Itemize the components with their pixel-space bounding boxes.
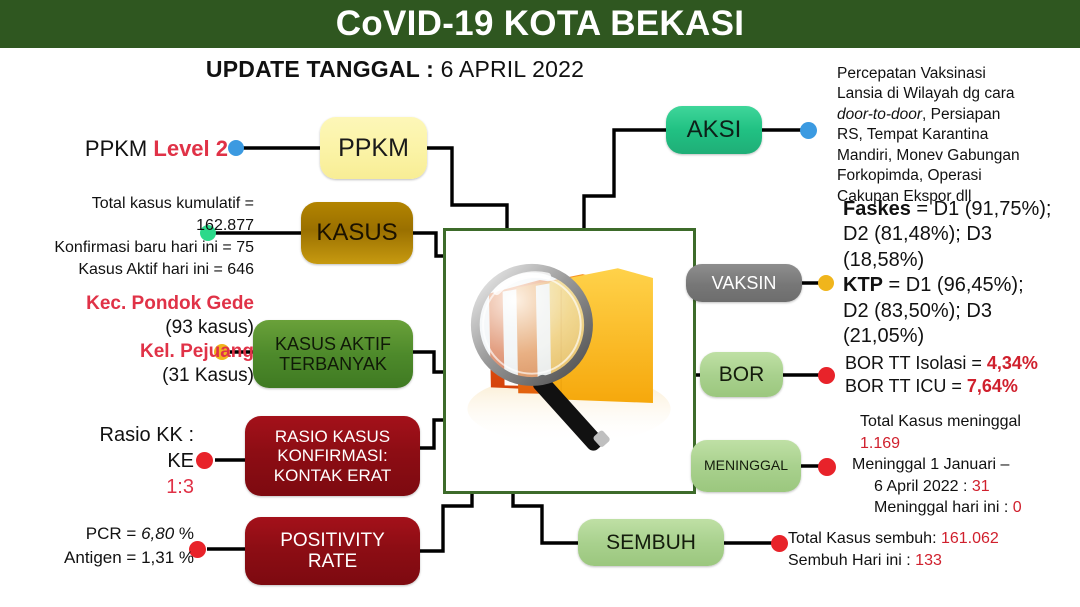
aksi-line5: Mandiri, Monev Gabungan (837, 146, 1055, 166)
vaksin-faskes-line3: (18,58%) (843, 248, 1075, 273)
vaksin-faskes-line2: D2 (81,48%); D3 (843, 222, 1075, 247)
sembuh-hari-ini-value: 133 (915, 552, 942, 569)
aksi-line3-italic: door-to-door (837, 106, 922, 123)
meninggal-periode-line2: 6 April 2022 : 31 (874, 476, 1078, 498)
meninggal-hari-ini-value: 0 (1013, 499, 1022, 516)
node-aksi[interactable]: AKSI (666, 106, 762, 154)
bor-icu: BOR TT ICU = 7,64% (845, 375, 1075, 398)
positivity-antigen: Antigen = 1,31 % (30, 546, 194, 570)
subtitle-label: UPDATE TANGGAL : (206, 56, 434, 82)
node-ppkm[interactable]: PPKM (320, 117, 427, 179)
aksi-line2: Lansia di Wilayah dg cara (837, 84, 1055, 104)
ppkm-label: PPKM (85, 136, 147, 161)
node-bor[interactable]: BOR (700, 352, 783, 397)
bor-icu-value: 7,64% (967, 376, 1018, 396)
kasus-aktif-kel: Kel. Pejuang (18, 340, 254, 364)
vaksin-ktp-line2: D2 (83,50%); D3 (843, 299, 1075, 324)
text-bor: BOR TT Isolasi = 4,34% BOR TT ICU = 7,64… (845, 352, 1075, 399)
aksi-line4: RS, Tempat Karantina (837, 125, 1055, 145)
vaksin-ktp-line1: KTP = D1 (96,45%); (843, 273, 1075, 298)
text-aksi: Percepatan Vaksinasi Lansia di Wilayah d… (837, 64, 1055, 207)
node-kasus-aktif-line2: TERBANYAK (275, 354, 391, 374)
rasio-value: 1:3 (60, 474, 194, 500)
meninggal-hari-ini: Meninggal hari ini : 0 (874, 497, 1078, 519)
aksi-line6: Forkopimda, Operasi (837, 166, 1055, 186)
sembuh-hari-ini: Sembuh Hari ini : 133 (788, 550, 1080, 572)
node-positivity-line1: POSITIVITY (280, 530, 385, 551)
node-meninggal[interactable]: MENINGGAL (691, 440, 801, 492)
kasus-line4: Kasus Aktif hari ini = 646 (22, 259, 254, 281)
bor-isolasi: BOR TT Isolasi = 4,34% (845, 352, 1075, 375)
node-rasio-line1: RASIO KASUS (274, 427, 391, 446)
dot-ppkm (228, 140, 244, 156)
text-meninggal: Total Kasus meninggal 1.169 Meninggal 1 … (852, 411, 1078, 519)
node-positivity-rate[interactable]: POSITIVITY RATE (245, 517, 420, 585)
bor-isolasi-label: BOR TT Isolasi = (845, 353, 987, 373)
node-rasio-kasus-konfirmasi[interactable]: RASIO KASUS KONFIRMASI: KONTAK ERAT (245, 416, 420, 496)
bor-isolasi-value: 4,34% (987, 353, 1038, 373)
folder-magnifier-icon (446, 231, 693, 491)
node-kasus-aktif-terbanyak[interactable]: KASUS AKTIF TERBANYAK (253, 320, 413, 388)
node-kasus-aktif-line1: KASUS AKTIF (275, 334, 391, 354)
rasio-line1: Rasio KK : (60, 422, 194, 448)
positivity-pcr-unit: % (174, 524, 194, 543)
node-rasio-line2: KONFIRMASI: (274, 446, 391, 465)
meninggal-periode-line1: Meninggal 1 Januari – (852, 454, 1078, 476)
kasus-aktif-kel-count: (31 Kasus) (18, 364, 254, 388)
text-kasus: Total kasus kumulatif = 162.877 Konfirma… (22, 193, 254, 281)
vaksin-faskes-d1: = D1 (91,75%); (911, 198, 1052, 220)
text-sembuh: Total Kasus sembuh: 161.062 Sembuh Hari … (788, 528, 1080, 572)
text-vaksin: Faskes = D1 (91,75%); D2 (81,48%); D3 (1… (843, 197, 1075, 349)
node-sembuh[interactable]: SEMBUH (578, 519, 724, 566)
dot-meninggal (818, 458, 836, 476)
kasus-line1: Total kasus kumulatif = (22, 193, 254, 215)
text-positivity: PCR = 6,80 % Antigen = 1,31 % (30, 522, 194, 570)
aksi-line3: door-to-door, Persiapan (837, 105, 1055, 125)
rasio-line2: KE (60, 448, 194, 474)
text-ppkm: PPKM Level 2 (60, 136, 228, 162)
meninggal-total-value: 1.169 (860, 433, 1078, 455)
dot-vaksin (818, 275, 834, 291)
infographic-canvas: CoVID-19 KOTA BEKASI UPDATE TANGGAL : 6 … (0, 0, 1080, 607)
positivity-pcr: PCR = 6,80 % (30, 522, 194, 546)
vaksin-ktp-line3: (21,05%) (843, 324, 1075, 349)
node-kasus[interactable]: KASUS (301, 202, 413, 264)
sembuh-total: Total Kasus sembuh: 161.062 (788, 528, 1080, 550)
ppkm-level-value: Level 2 (153, 136, 228, 161)
aksi-line3-rest: , Persiapan (922, 106, 1000, 123)
kasus-aktif-kec-count: (93 kasus) (18, 316, 254, 340)
positivity-pcr-label: PCR = (86, 524, 141, 543)
kasus-aktif-kec: Kec. Pondok Gede (18, 292, 254, 316)
sembuh-total-value: 161.062 (941, 530, 999, 547)
kasus-line3: Konfirmasi baru hari ini = 75 (22, 237, 254, 259)
text-rasio: Rasio KK : KE 1:3 (60, 422, 194, 500)
sembuh-hari-ini-label: Sembuh Hari ini : (788, 552, 915, 569)
vaksin-ktp-d1: = D1 (96,45%); (883, 274, 1024, 296)
bor-icu-label: BOR TT ICU = (845, 376, 967, 396)
dot-aksi (800, 122, 817, 139)
aksi-line1: Percepatan Vaksinasi (837, 64, 1055, 84)
text-kasus-aktif: Kec. Pondok Gede (93 kasus) Kel. Pejuang… (18, 292, 254, 389)
dot-rasio (196, 452, 213, 469)
meninggal-hari-ini-label: Meninggal hari ini : (874, 499, 1013, 516)
positivity-pcr-value: 6,80 (141, 524, 174, 543)
node-vaksin[interactable]: VAKSIN (686, 264, 802, 302)
meninggal-periode-label: 6 April 2022 : (874, 478, 972, 495)
subtitle-date: 6 APRIL 2022 (441, 56, 585, 82)
node-rasio-line3: KONTAK ERAT (274, 466, 391, 485)
update-subtitle: UPDATE TANGGAL : 6 APRIL 2022 (0, 56, 790, 83)
vaksin-faskes-label: Faskes (843, 198, 911, 220)
page-title: CoVID-19 KOTA BEKASI (0, 1, 1080, 47)
meninggal-periode-value: 31 (972, 478, 990, 495)
vaksin-faskes-line1: Faskes = D1 (91,75%); (843, 197, 1075, 222)
sembuh-total-label: Total Kasus sembuh: (788, 530, 941, 547)
dot-bor (818, 367, 835, 384)
node-positivity-line2: RATE (280, 551, 385, 572)
vaksin-ktp-label: KTP (843, 274, 883, 296)
center-image-frame (443, 228, 696, 494)
kasus-line2: 162.877 (22, 215, 254, 237)
meninggal-total-label: Total Kasus meninggal (860, 411, 1078, 433)
dot-sembuh (771, 535, 788, 552)
